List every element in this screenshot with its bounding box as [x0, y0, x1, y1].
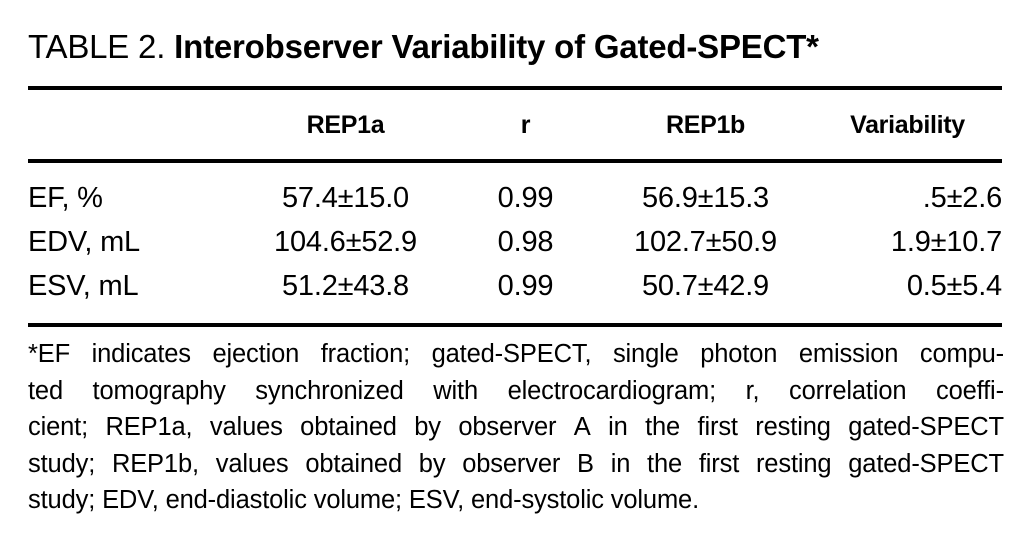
column-header-r: r [453, 110, 598, 140]
column-header-rep1b: REP1b [598, 110, 813, 140]
table-figure: TABLE 2. Interobserver Variability of Ga… [0, 0, 1024, 546]
cell-rep1b: 50.7±42.9 [598, 264, 813, 308]
cell-rep1a: 51.2±43.8 [238, 264, 453, 308]
table-row: EDV, mL 104.6±52.9 0.98 102.7±50.9 1.9±1… [28, 220, 1002, 264]
cell-rep1b: 102.7±50.9 [598, 220, 813, 264]
cell-variability: .5±2.6 [813, 176, 1002, 220]
cell-r: 0.99 [453, 176, 598, 220]
table-row: EF, % 57.4±15.0 0.99 56.9±15.3 .5±2.6 [28, 176, 1002, 220]
cell-label: ESV, mL [28, 264, 238, 308]
table-header-row: REP1a r REP1b Variability [28, 110, 1002, 140]
cell-r: 0.98 [453, 220, 598, 264]
cell-label: EDV, mL [28, 220, 238, 264]
table-title: TABLE 2. Interobserver Variability of Ga… [28, 27, 1008, 67]
rule-bottom [28, 323, 1002, 327]
table-title-prefix: TABLE 2. [28, 28, 165, 65]
footnote-line: *EFindicatesejectionfraction;gated-SPECT… [28, 336, 1004, 373]
table-row: ESV, mL 51.2±43.8 0.99 50.7±42.9 0.5±5.4 [28, 264, 1002, 308]
cell-variability: 0.5±5.4 [813, 264, 1002, 308]
footnote-line: cient;REP1a,valuesobtainedbyobserverAint… [28, 409, 1004, 446]
column-header-rep1a: REP1a [238, 110, 453, 140]
cell-label: EF, % [28, 176, 238, 220]
table-footnote: *EFindicatesejectionfraction;gated-SPECT… [28, 336, 1004, 519]
footnote-line: study; EDV, end-diastolic volume; ESV, e… [28, 482, 1004, 519]
column-header-variability: Variability [813, 110, 1002, 140]
rule-below-header [28, 159, 1002, 163]
table-body: EF, % 57.4±15.0 0.99 56.9±15.3 .5±2.6 ED… [28, 176, 1002, 308]
cell-rep1a: 104.6±52.9 [238, 220, 453, 264]
cell-r: 0.99 [453, 264, 598, 308]
rule-top [28, 86, 1002, 90]
cell-rep1b: 56.9±15.3 [598, 176, 813, 220]
footnote-line: study;REP1b,valuesobtainedbyobserverBint… [28, 446, 1004, 483]
table-title-main: Interobserver Variability of Gated-SPECT… [174, 28, 819, 65]
cell-variability: 1.9±10.7 [813, 220, 1002, 264]
cell-rep1a: 57.4±15.0 [238, 176, 453, 220]
footnote-line: tedtomographysynchronizedwithelectrocard… [28, 373, 1004, 410]
